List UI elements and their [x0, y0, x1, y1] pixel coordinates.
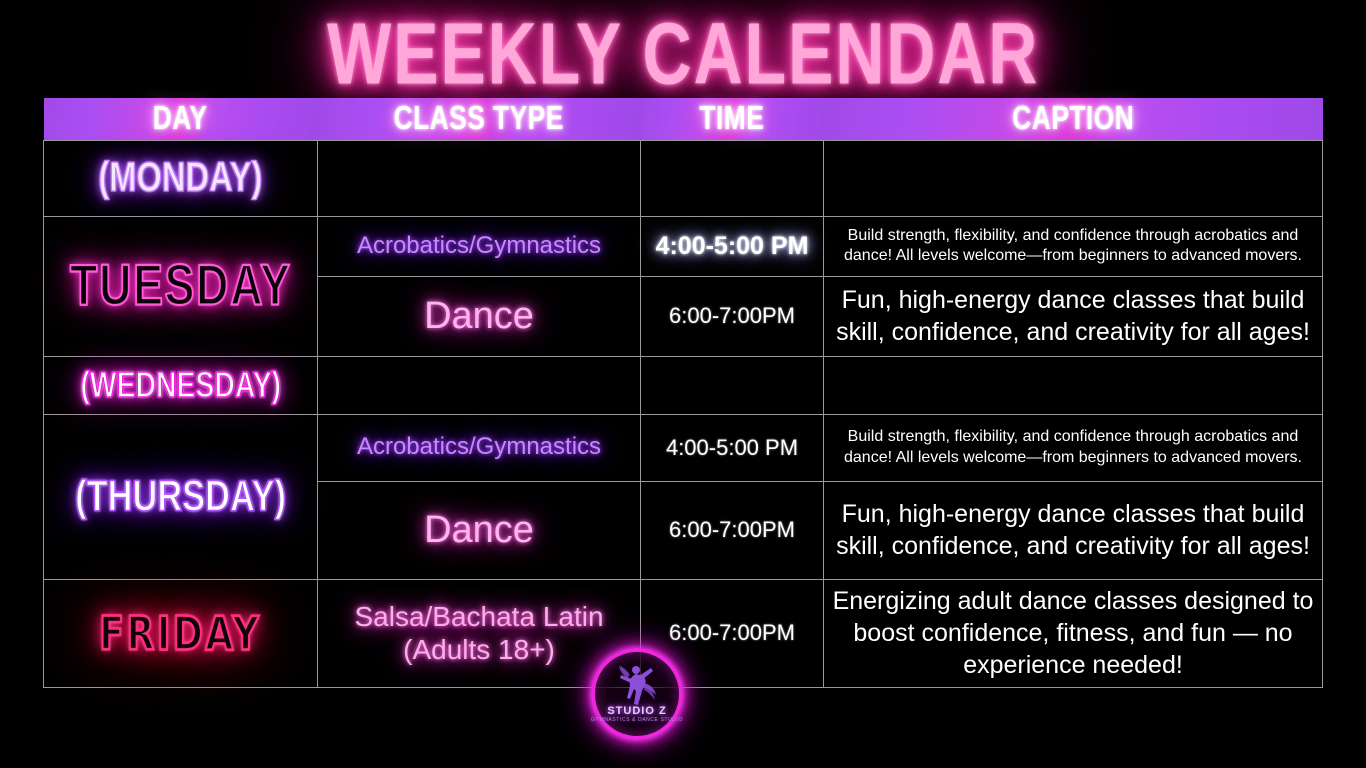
column-header-class-type: CLASS TYPE — [318, 98, 641, 140]
caption-cell-wednesday — [824, 356, 1323, 414]
logo-name: STUDIO Z — [591, 705, 683, 717]
table-row-thursday-1[interactable]: (THURSDAY) Acrobatics/Gymnastics 4:00-5:… — [44, 414, 1323, 481]
page-title: WEEKLY CALENDAR — [327, 10, 1039, 97]
day-cell-monday: (MONDAY) — [44, 140, 318, 216]
caption-cell-tuesday-dance: Fun, high-energy dance classes that buil… — [824, 276, 1323, 356]
column-header-class-type-label: CLASS TYPE — [394, 100, 564, 138]
time-label-tuesday-dance: 6:00-7:00PM — [669, 303, 795, 328]
class-type-cell-tuesday-dance: Dance — [318, 276, 641, 356]
time-label-friday: 6:00-7:00PM — [669, 620, 795, 645]
page-title-container: WEEKLY CALENDAR — [0, 12, 1366, 96]
day-label-tuesday: TUESDAY — [70, 253, 292, 319]
class-type-label-tuesday-dance: Dance — [424, 295, 534, 337]
class-type-label-tuesday-acro: Acrobatics/Gymnastics — [357, 232, 601, 259]
time-cell-thursday-acro: 4:00-5:00 PM — [641, 414, 824, 481]
time-cell-tuesday-dance: 6:00-7:00PM — [641, 276, 824, 356]
time-label-thursday-dance: 6:00-7:00PM — [669, 517, 795, 542]
class-type-cell-tuesday-acro: Acrobatics/Gymnastics — [318, 216, 641, 276]
dancer-silhouette-icon — [617, 664, 659, 710]
class-type-label-friday-line1: Salsa/Bachata Latin — [354, 601, 603, 632]
caption-cell-thursday-acro: Build strength, flexibility, and confide… — [824, 414, 1323, 481]
time-label-thursday-acro: 4:00-5:00 PM — [666, 435, 798, 460]
column-header-caption-label: CAPTION — [1012, 100, 1134, 138]
column-header-day-label: DAY — [153, 100, 208, 138]
column-header-time: TIME — [641, 98, 824, 140]
time-cell-thursday-dance: 6:00-7:00PM — [641, 481, 824, 579]
class-type-label-thursday-dance: Dance — [424, 509, 534, 551]
table-header-row: DAY CLASS TYPE TIME CAPTION — [44, 98, 1323, 140]
class-type-cell-monday — [318, 140, 641, 216]
time-cell-wednesday — [641, 356, 824, 414]
time-cell-tuesday-acro: 4:00-5:00 PM — [641, 216, 824, 276]
day-label-thursday: (THURSDAY) — [75, 472, 286, 522]
day-label-friday: FRIDAY — [99, 606, 261, 660]
caption-cell-monday — [824, 140, 1323, 216]
caption-cell-friday: Energizing adult dance classes designed … — [824, 579, 1323, 687]
table-row-wednesday[interactable]: (WEDNESDAY) — [44, 356, 1323, 414]
class-type-cell-wednesday — [318, 356, 641, 414]
class-type-cell-thursday-dance: Dance — [318, 481, 641, 579]
column-header-day: DAY — [44, 98, 318, 140]
day-cell-tuesday: TUESDAY — [44, 216, 318, 356]
table-row-tuesday-1[interactable]: TUESDAY Acrobatics/Gymnastics 4:00-5:00 … — [44, 216, 1323, 276]
day-cell-friday: FRIDAY — [44, 579, 318, 687]
caption-cell-thursday-dance: Fun, high-energy dance classes that buil… — [824, 481, 1323, 579]
day-label-wednesday: (WEDNESDAY) — [80, 364, 281, 406]
time-label-tuesday-acro: 4:00-5:00 PM — [656, 232, 809, 260]
day-cell-thursday: (THURSDAY) — [44, 414, 318, 579]
weekly-calendar-table: DAY CLASS TYPE TIME CAPTION (MONDAY) — [43, 98, 1323, 688]
day-label-monday: (MONDAY) — [98, 154, 262, 201]
column-header-caption: CAPTION — [824, 98, 1323, 140]
class-type-cell-thursday-acro: Acrobatics/Gymnastics — [318, 414, 641, 481]
studio-logo[interactable]: STUDIO Z GYMNASTICS & DANCE STUDIO — [591, 648, 691, 748]
class-type-label-friday-line2: (Adults 18+) — [403, 634, 555, 665]
caption-cell-tuesday-acro: Build strength, flexibility, and confide… — [824, 216, 1323, 276]
logo-tagline: GYMNASTICS & DANCE STUDIO — [591, 717, 683, 723]
class-type-label-thursday-acro: Acrobatics/Gymnastics — [357, 433, 601, 460]
table-row-monday[interactable]: (MONDAY) — [44, 140, 1323, 216]
day-cell-wednesday: (WEDNESDAY) — [44, 356, 318, 414]
time-cell-monday — [641, 140, 824, 216]
column-header-time-label: TIME — [700, 100, 765, 138]
